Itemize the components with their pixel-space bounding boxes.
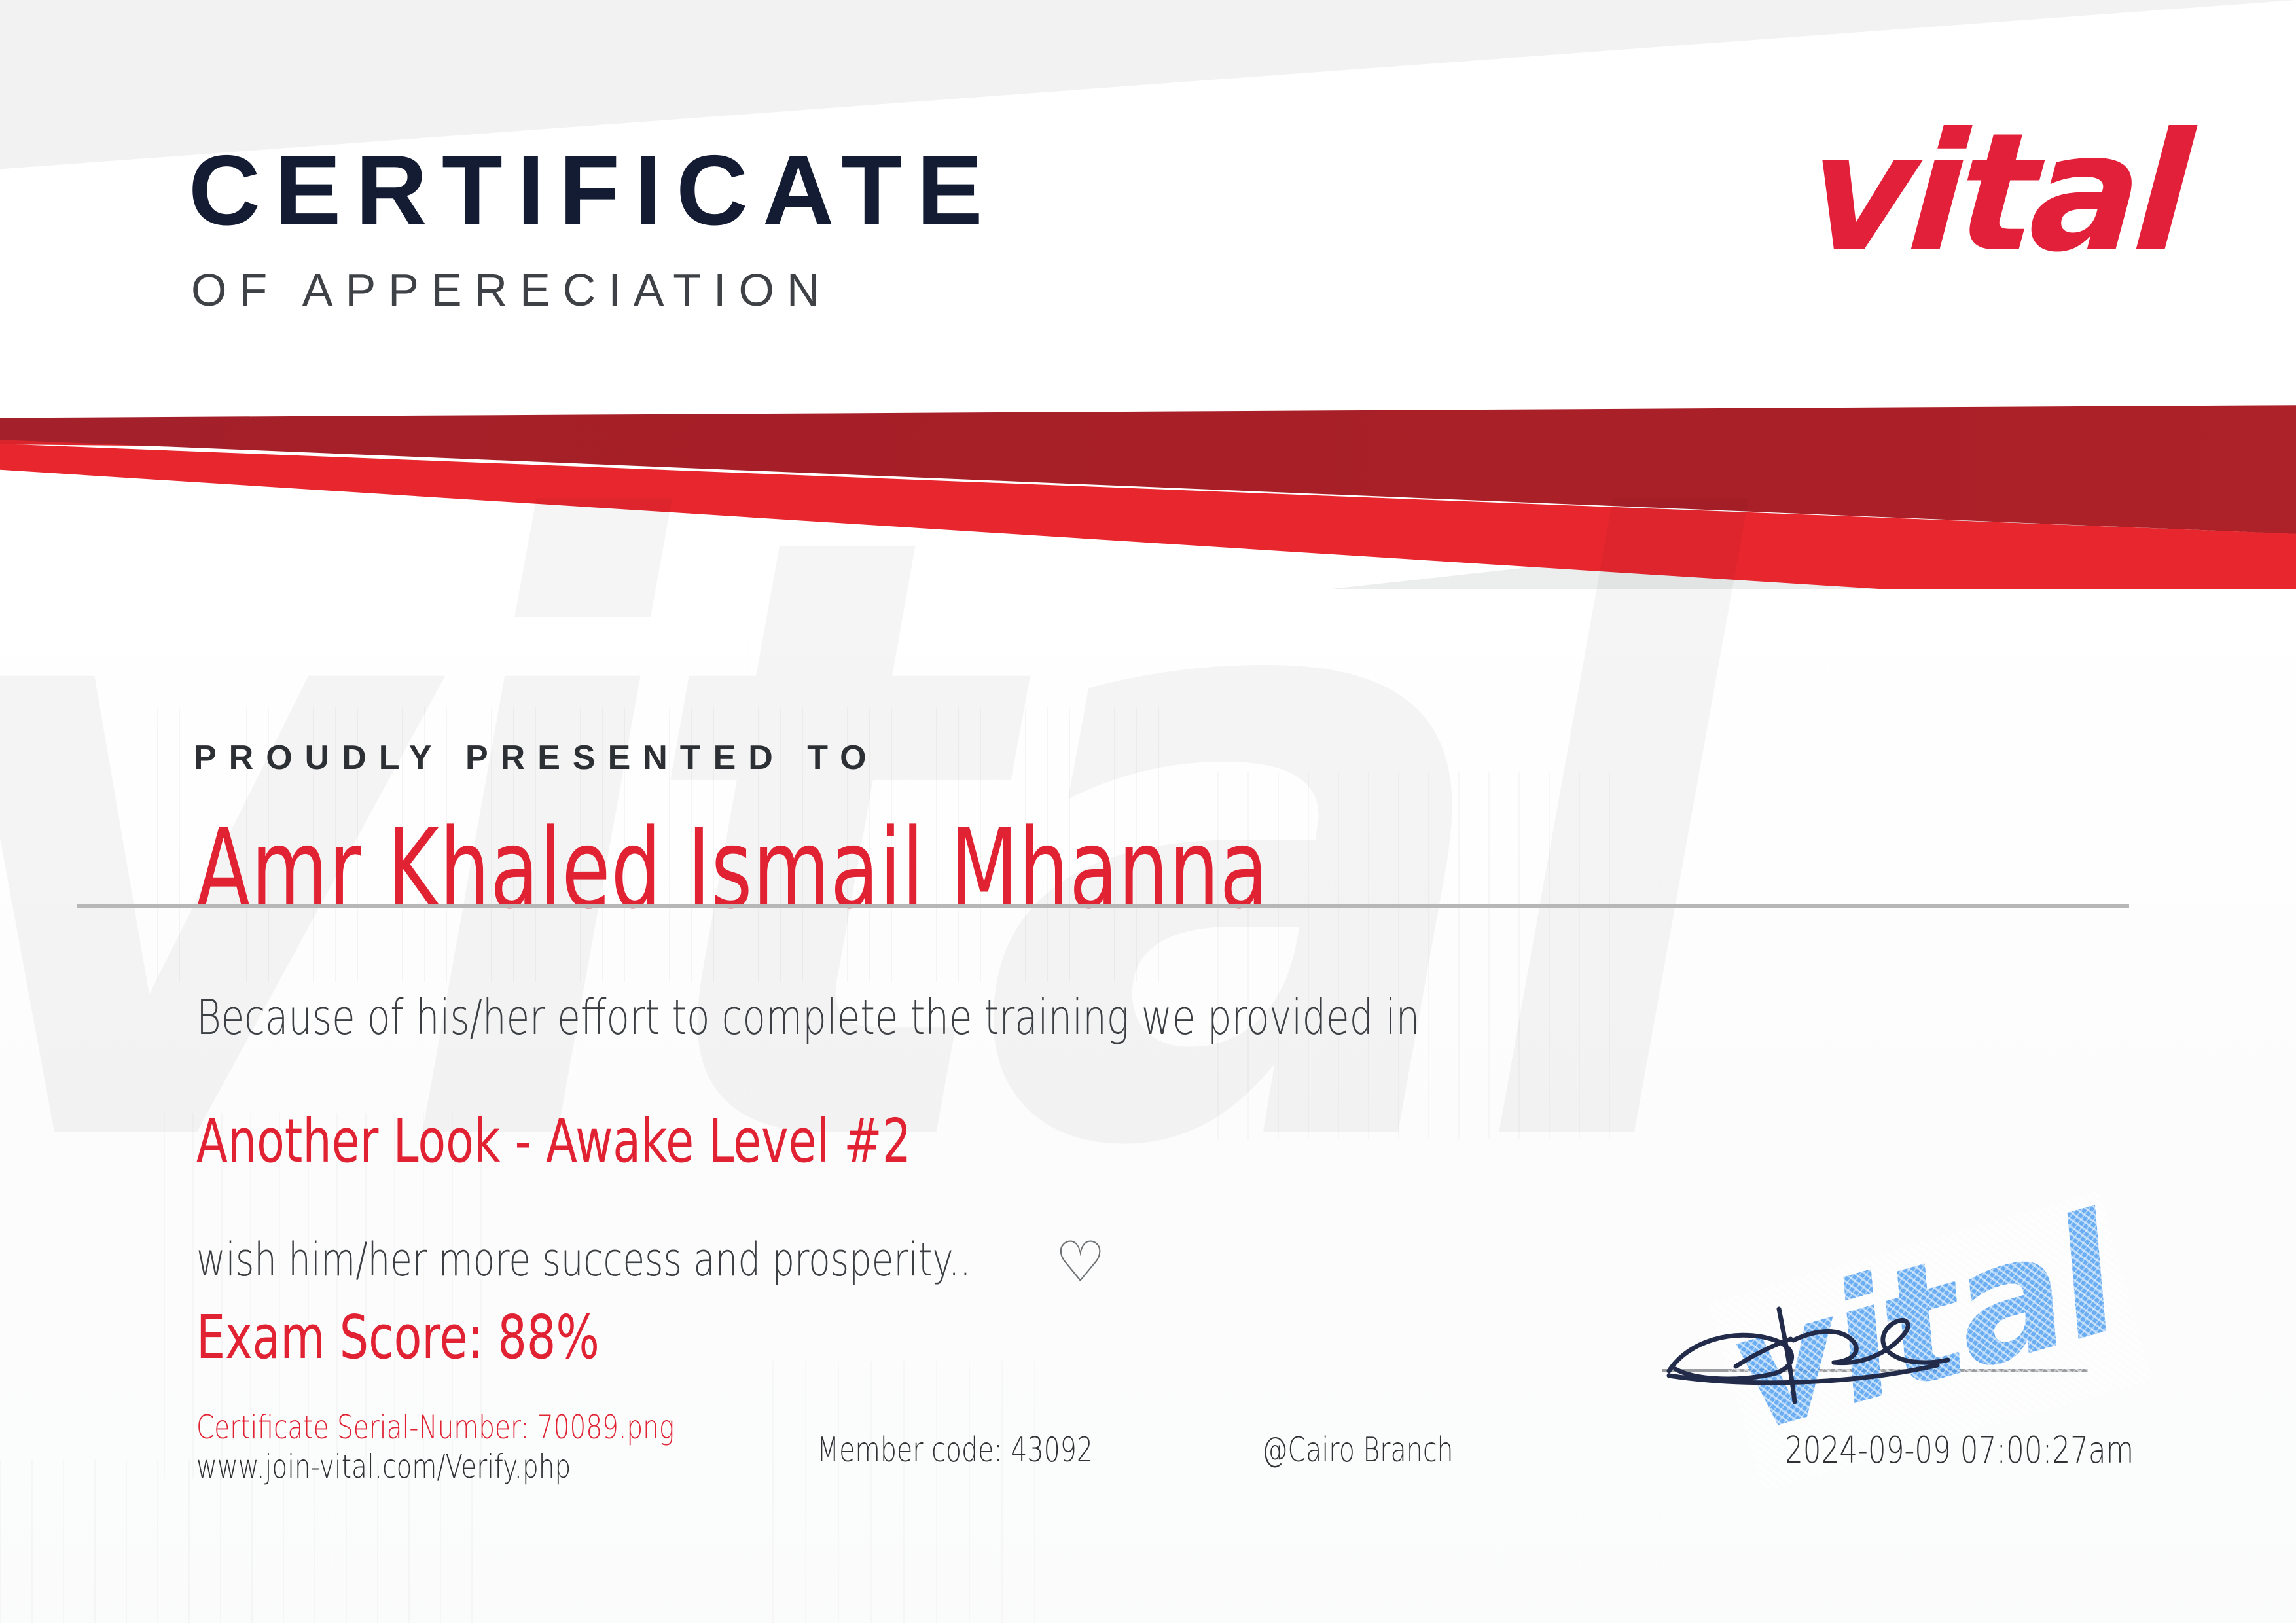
wish-line: wish him/her more success and prosperity…: [196, 1233, 971, 1287]
page-subtitle: OF APPERECIATION: [191, 267, 833, 313]
signature-icon: [1656, 1230, 2075, 1427]
course-name: Another Look - Awake Level #2: [196, 1106, 911, 1176]
heart-icon: ♡: [1055, 1234, 1105, 1291]
certificate-serial-number: Certificate Serial-Number: 70089.png: [196, 1408, 674, 1446]
vital-logo: vital: [1804, 111, 2191, 275]
branch-name: @Cairo Branch: [1262, 1431, 1454, 1470]
hatch-texture-bottom-mid: [772, 1361, 1047, 1623]
verify-url[interactable]: www.join-vital.com/Verify.php: [196, 1448, 571, 1486]
issued-timestamp: 2024-09-09 07:00:27am: [1785, 1429, 2134, 1472]
hatch-texture-right: [1217, 772, 1610, 1139]
exam-score: Exam Score: 88%: [196, 1302, 600, 1372]
certificate-canvas: vital CERTIFICATE OF APPERECIATION vital…: [0, 0, 2296, 1623]
certificate-header: CERTIFICATE OF APPERECIATION vital: [0, 0, 2296, 445]
member-code: Member code: 43092: [817, 1431, 1093, 1470]
reason-line: Because of his/her effort to complete th…: [196, 990, 1420, 1046]
name-underline-rule: [77, 904, 2129, 908]
page-title: CERTIFICATE: [188, 141, 997, 240]
presented-to-label: PROUDLY PRESENTED TO: [194, 738, 879, 777]
recipient-name: Amr Khaled Ismail Mhanna: [196, 805, 1268, 933]
